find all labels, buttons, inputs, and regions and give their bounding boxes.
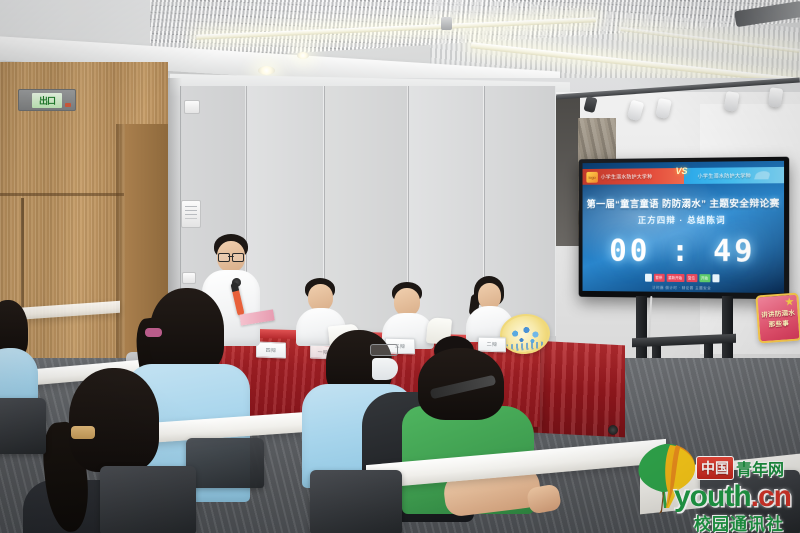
banner-wave-decoration-icon bbox=[754, 171, 771, 179]
banner-right-team: 小学生溺水防护大学种 bbox=[683, 167, 784, 184]
timer-restart-button[interactable]: 重新开始 bbox=[666, 274, 684, 282]
audience-chair[interactable] bbox=[700, 470, 800, 533]
door-transom-panel bbox=[0, 124, 124, 196]
dark-wall-column bbox=[556, 96, 580, 246]
presentation-display[interactable]: logo 小学生溺水防护大学种 小学生溺水防护大学种 VS 第一届“童言童语 防… bbox=[579, 157, 789, 300]
hand bbox=[526, 483, 562, 514]
audience-chair[interactable] bbox=[310, 470, 402, 533]
timer-start-button[interactable]: 开始 bbox=[699, 274, 710, 282]
sprinkler-head-icon bbox=[441, 17, 452, 30]
debate-title: 第一届“童言童语 防防溺水” 主题安全辩论赛 bbox=[583, 195, 785, 210]
stand-shelf bbox=[632, 334, 736, 348]
audience-chair[interactable] bbox=[100, 466, 196, 533]
debate-subtitle: 正方四辩 · 总结陈词 bbox=[583, 214, 785, 226]
screen-footer-text: 计时器 倒计时 · 辩论赛 主题安全 bbox=[583, 285, 785, 292]
eyeglasses-icon bbox=[218, 253, 244, 260]
hair bbox=[69, 368, 159, 472]
timer-pause-button[interactable]: 暂停 bbox=[653, 274, 664, 282]
banner-left-label: 小学生溺水防护大学种 bbox=[601, 173, 653, 180]
audience-member-laptop-user bbox=[382, 348, 568, 533]
audience-chair[interactable] bbox=[186, 438, 264, 488]
table-caster-icon bbox=[608, 425, 618, 435]
vs-label: VS bbox=[676, 166, 688, 176]
face bbox=[394, 288, 420, 316]
timer-reset-button[interactable]: 复位 bbox=[686, 274, 697, 282]
banner-left-team: logo 小学生溺水防护大学种 bbox=[583, 168, 684, 185]
hair-tie bbox=[145, 328, 162, 337]
wall-banner-line2: 那些事 bbox=[768, 317, 789, 328]
timer-controls[interactable]: 暂停 重新开始 复位 开始 bbox=[645, 274, 719, 283]
timer-control-spacer-left bbox=[645, 274, 652, 282]
emergency-exit-sign: 出口 bbox=[18, 89, 76, 111]
hair-tie bbox=[71, 426, 95, 439]
banner-right-label: 小学生溺水防护大学种 bbox=[698, 172, 751, 180]
audience-chair[interactable] bbox=[0, 398, 46, 454]
countdown-timer: 00 : 49 bbox=[583, 234, 785, 270]
timer-control-spacer-right bbox=[712, 274, 719, 282]
photo-scene: 出口 logo 小学生溺水防护大学种 小学生溺水防护大学种 VS 第一届“童言童… bbox=[0, 0, 800, 533]
downlight-icon bbox=[258, 66, 275, 75]
face bbox=[308, 284, 333, 311]
exit-sign-glyph: 出口 bbox=[32, 93, 62, 108]
wall-outlet[interactable] bbox=[182, 272, 196, 284]
downlight-icon bbox=[297, 52, 309, 59]
wall-switch[interactable] bbox=[184, 100, 200, 114]
wall-notice-sign bbox=[181, 200, 201, 228]
display-screen: logo 小学生溺水防护大学种 小学生溺水防护大学种 VS 第一届“童言童语 防… bbox=[583, 161, 785, 293]
wall-banner-water-safety: 讲讲防溺水 那些事 bbox=[755, 293, 800, 344]
event-logo-icon: logo bbox=[586, 171, 598, 182]
